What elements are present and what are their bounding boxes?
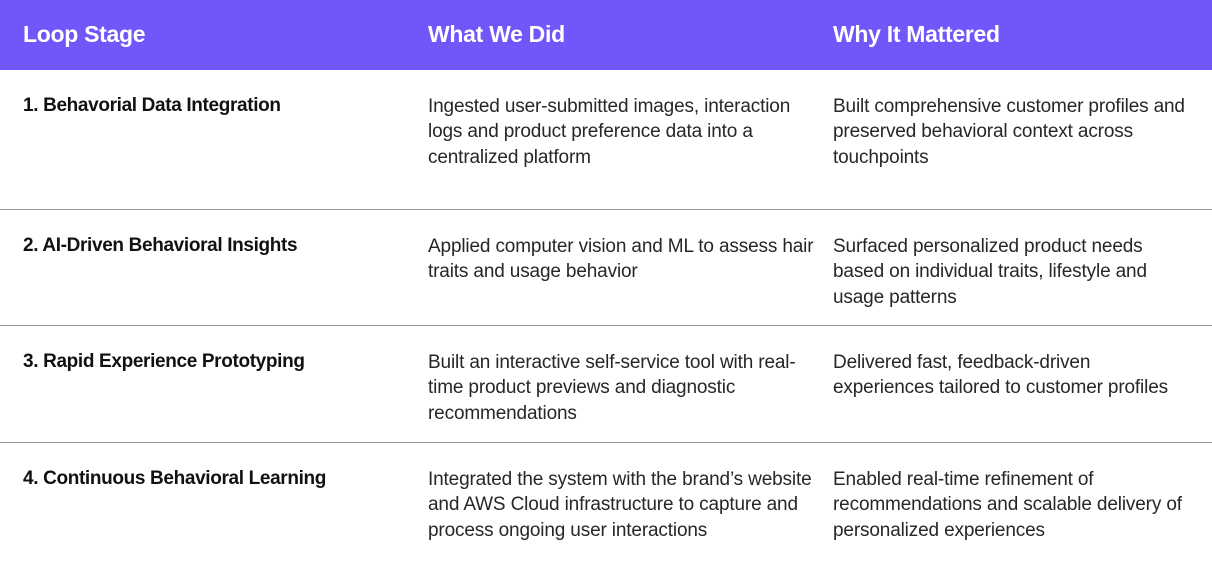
table-body: 1. Behavorial Data Integration Ingested …	[0, 70, 1212, 584]
cell-why-it-mattered: Surfaced personalized product needs base…	[833, 210, 1212, 310]
cell-why-it-mattered: Delivered fast, feedback-driven experien…	[833, 326, 1212, 401]
column-header-what-we-did: What We Did	[428, 22, 833, 47]
table-row: 2. AI-Driven Behavioral Insights Applied…	[0, 210, 1212, 326]
table-header-row: Loop Stage What We Did Why It Mattered	[0, 0, 1212, 70]
cell-loop-stage: 1. Behavorial Data Integration	[0, 70, 428, 118]
cell-loop-stage: 4. Continuous Behavioral Learning	[0, 443, 428, 491]
cell-what-we-did: Built an interactive self-service tool w…	[428, 326, 833, 426]
table-row: 1. Behavorial Data Integration Ingested …	[0, 70, 1212, 210]
column-header-loop-stage: Loop Stage	[0, 22, 428, 47]
table-row: 3. Rapid Experience Prototyping Built an…	[0, 326, 1212, 443]
cell-loop-stage: 3. Rapid Experience Prototyping	[0, 326, 428, 374]
cell-what-we-did: Ingested user-submitted images, interact…	[428, 70, 833, 170]
cell-loop-stage: 2. AI-Driven Behavioral Insights	[0, 210, 428, 258]
cell-why-it-mattered: Built comprehensive customer profiles an…	[833, 70, 1212, 170]
cell-what-we-did: Applied computer vision and ML to assess…	[428, 210, 833, 285]
loop-stage-table: Loop Stage What We Did Why It Mattered 1…	[0, 0, 1212, 584]
column-header-why-it-mattered: Why It Mattered	[833, 22, 1212, 47]
table-row: 4. Continuous Behavioral Learning Integr…	[0, 443, 1212, 584]
cell-what-we-did: Integrated the system with the brand’s w…	[428, 443, 833, 543]
cell-why-it-mattered: Enabled real-time refinement of recommen…	[833, 443, 1212, 543]
